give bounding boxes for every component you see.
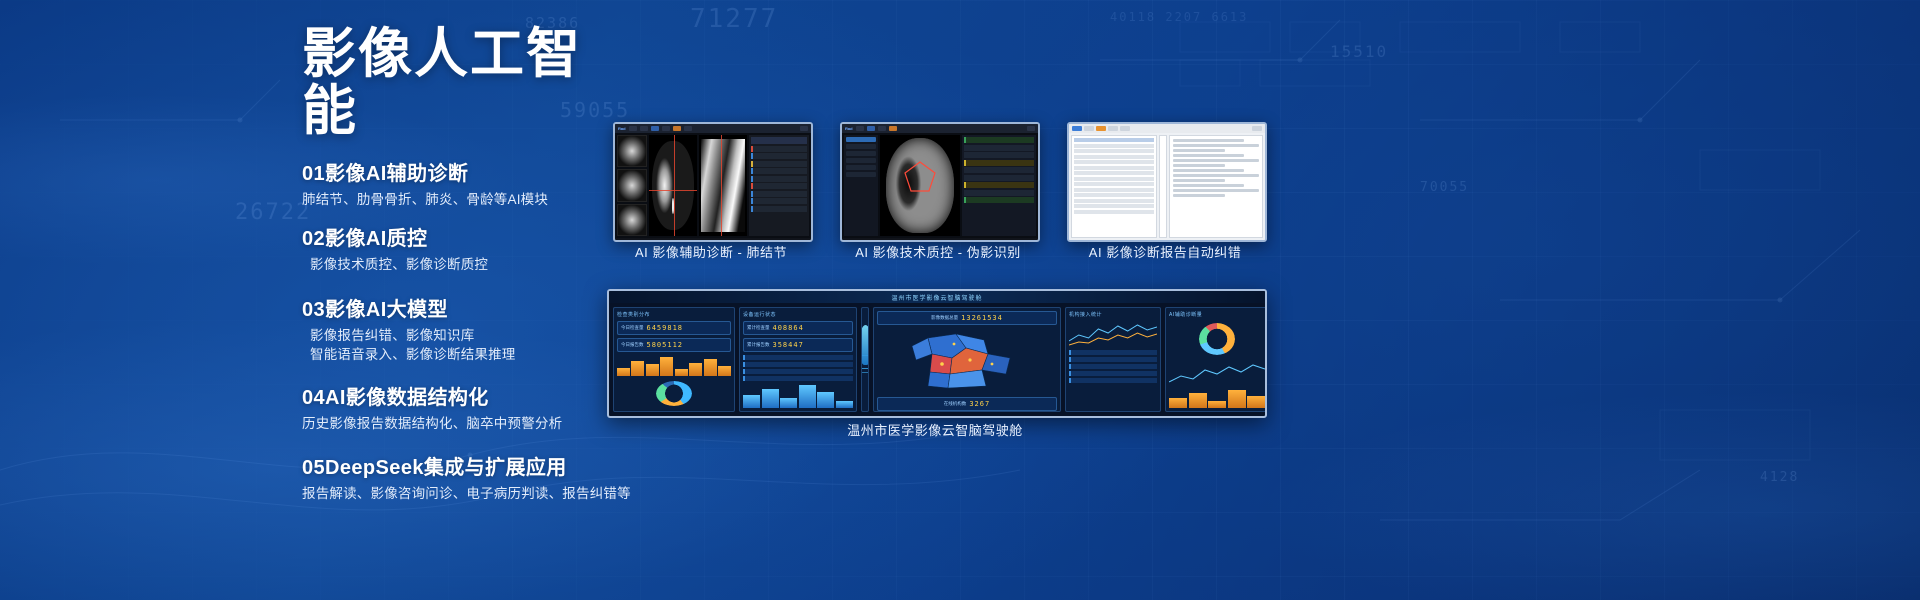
toolbar-button[interactable] — [856, 126, 864, 131]
dashboard-panel-device-status[interactable]: 设备运行状态 累计检查量 408864 累计报告数 358447 — [739, 307, 857, 412]
list-item[interactable] — [743, 355, 853, 360]
toolbar-button[interactable] — [1096, 126, 1106, 131]
feature-title: 01影像AI辅助诊断 — [302, 161, 632, 187]
series-thumbnail[interactable] — [617, 204, 647, 236]
sidebar-item[interactable] — [846, 158, 876, 163]
toolbar-button[interactable] — [1120, 126, 1130, 131]
wenzhou-map-svg — [892, 328, 1042, 394]
bg-number: 70055 — [1420, 180, 1469, 195]
kpi-label: 在线机构数 — [944, 401, 967, 407]
list-item[interactable] — [1069, 364, 1157, 369]
findings-panel[interactable] — [749, 135, 809, 236]
toolbar-button[interactable] — [1252, 126, 1262, 131]
caption-ai-qc: AI 影像技术质控 - 伪影识别 — [840, 242, 1036, 261]
sidebar-item[interactable] — [846, 165, 876, 170]
dashboard-panel-resource-map[interactable]: 影像数据总量 13261534 — [873, 307, 1061, 412]
correction-suggestion-panel[interactable] — [1169, 135, 1263, 238]
worklist-row[interactable] — [1074, 144, 1154, 148]
report-workspace — [1069, 133, 1265, 240]
feature-title: 05DeepSeek集成与扩展应用 — [302, 455, 632, 481]
sidebar-item[interactable] — [846, 172, 876, 177]
suggestion-line — [1173, 159, 1259, 162]
kpi-label: 累计报告数 — [747, 342, 770, 348]
list-item[interactable] — [1069, 378, 1157, 383]
suggestion-line — [1173, 154, 1243, 157]
bg-number: 26722 — [235, 200, 311, 225]
feature-item-02: 02影像AI质控 影像技术质控、影像诊断质控 — [302, 226, 632, 275]
suggestion-line — [1173, 194, 1224, 197]
screenshot-ai-qc[interactable]: Rad — [840, 122, 1040, 242]
app-titlebar: Rad — [615, 124, 811, 133]
kpi-value: 3267 — [969, 400, 990, 408]
kpi-today-exams: 今日检查量 6459818 — [617, 321, 731, 335]
feature-item-01: 01影像AI辅助诊断 肺结节、肋骨骨折、肺炎、骨龄等AI模块 — [302, 161, 632, 210]
crosshair-vertical — [674, 135, 675, 236]
toolbar-button[interactable] — [1108, 126, 1118, 131]
page-title: 影像人工智能 — [302, 26, 632, 139]
worklist-row[interactable] — [1074, 160, 1154, 164]
list-item[interactable] — [1069, 350, 1157, 355]
worklist-row[interactable] — [1074, 171, 1154, 175]
qc-result-row[interactable] — [964, 167, 1034, 173]
suggestion-line — [1173, 189, 1259, 192]
sidebar-item[interactable] — [846, 151, 876, 156]
toolbar-button[interactable] — [640, 126, 648, 131]
feature-subtitle: 影像报告纠错、影像知识库 — [302, 326, 632, 346]
bg-number: 40118 2207 6613 — [1110, 10, 1248, 24]
suggestion-line — [1173, 144, 1259, 147]
kpi-value: 5805112 — [647, 341, 684, 349]
panel-title: 检查类别分布 — [617, 311, 731, 318]
bg-number: 4128 — [1760, 470, 1799, 485]
worklist-row[interactable] — [1074, 210, 1154, 214]
qc-result-row[interactable] — [964, 145, 1034, 151]
caption-ai-diagnosis: AI 影像辅助诊断 - 肺结节 — [613, 242, 809, 261]
ct-coronal-view[interactable] — [699, 135, 747, 236]
donut-chart — [656, 381, 692, 406]
feature-title: 02影像AI质控 — [302, 226, 632, 252]
feature-title: 04AI影像数据结构化 — [302, 385, 632, 411]
suggestion-line — [1173, 149, 1224, 152]
dashboard-panel-institution-stats[interactable]: 机构接入统计 — [1065, 307, 1161, 412]
report-editor[interactable] — [1159, 135, 1167, 238]
worklist-header — [1074, 138, 1154, 142]
app-titlebar: Rad — [842, 124, 1038, 133]
feature-list-column: 影像人工智能 01影像AI辅助诊断 肺结节、肋骨骨折、肺炎、骨龄等AI模块 02… — [302, 26, 632, 517]
list-item[interactable] — [1069, 371, 1157, 376]
caption-report-correction: AI 影像诊断报告自动纠错 — [1067, 242, 1263, 261]
dashboard-body: 检查类别分布 今日检查量 6459818 今日报告数 5805112 设备运行状… — [609, 303, 1265, 416]
worklist-panel[interactable] — [1071, 135, 1157, 238]
qc-result-row[interactable] — [964, 152, 1034, 158]
worklist-row[interactable] — [1074, 199, 1154, 203]
coronal-image — [701, 139, 745, 232]
kpi-label: 累计检查量 — [747, 325, 770, 331]
toolbar-button[interactable] — [867, 126, 875, 131]
worklist-row[interactable] — [1074, 204, 1154, 208]
worklist-row[interactable] — [1074, 149, 1154, 153]
crosshair-vertical — [721, 135, 722, 236]
screenshot-ai-diagnosis[interactable]: Rad — [613, 122, 813, 242]
qc-result-row[interactable] — [964, 160, 1034, 166]
bg-number: 15510 — [1330, 42, 1388, 61]
feature-subtitle: 报告解读、影像咨询问诊、电子病历判读、报告纠错等 — [302, 484, 632, 504]
sidebar-item[interactable] — [846, 144, 876, 149]
banner-stage: 71277 82386 59055 26722 40118 2207 6613 … — [0, 0, 1920, 600]
bg-number: 71277 — [690, 4, 778, 34]
suggestion-line — [1173, 169, 1243, 172]
caption-cloud-dashboard: 温州市医学影像云智脑驾驶舱 — [607, 420, 1263, 439]
dashboard-panel-hologram[interactable] — [861, 307, 869, 412]
region-map[interactable] — [877, 328, 1057, 394]
list-item[interactable] — [743, 369, 853, 374]
finding-row[interactable] — [751, 153, 807, 159]
app-logo: Rad — [845, 126, 853, 131]
feature-subtitle: 影像技术质控、影像诊断质控 — [302, 255, 632, 275]
bar-chart — [617, 355, 731, 376]
panel-title: 机构接入统计 — [1069, 311, 1157, 318]
finding-row[interactable] — [751, 206, 807, 212]
feature-item-03: 03影像AI大模型 影像报告纠错、影像知识库 智能语音录入、影像诊断结果推理 — [302, 297, 632, 365]
feature-subtitle: 肺结节、肋骨骨折、肺炎、骨龄等AI模块 — [302, 190, 632, 210]
screenshot-report-correction[interactable] — [1067, 122, 1267, 242]
kpi-value: 6459818 — [647, 324, 684, 332]
chest-ct-view[interactable] — [880, 135, 960, 236]
kpi-label: 今日报告数 — [621, 342, 644, 348]
dashboard-panel-ai-volume[interactable]: AI辅助诊断量 — [1165, 307, 1267, 412]
qc-sidebar[interactable] — [844, 135, 878, 236]
qc-result-row[interactable] — [964, 137, 1034, 143]
toolbar-button[interactable] — [629, 126, 637, 131]
body-silhouette — [861, 325, 869, 365]
kpi-cumulative-exams: 累计检查量 408864 — [743, 321, 853, 335]
app-toolbar — [1069, 124, 1265, 133]
finding-row[interactable] — [751, 198, 807, 204]
feature-item-04: 04AI影像数据结构化 历史影像报告数据结构化、脑卒中预警分析 — [302, 385, 632, 434]
feature-subtitle: 智能语音录入、影像诊断结果推理 — [302, 345, 632, 365]
panel-title: AI辅助诊断量 — [1169, 311, 1265, 318]
toolbar-button[interactable] — [662, 126, 670, 131]
status-list[interactable] — [743, 355, 853, 381]
dashboard-panel-exam-category[interactable]: 检查类别分布 今日检查量 6459818 今日报告数 5805112 — [613, 307, 735, 412]
list-item[interactable] — [1069, 357, 1157, 362]
sidebar-item[interactable] — [846, 137, 876, 142]
kpi-label: 影像数据总量 — [931, 315, 958, 321]
finding-row[interactable] — [751, 168, 807, 174]
kpi-value: 13261534 — [961, 314, 1003, 322]
kpi-label: 今日检查量 — [621, 325, 644, 331]
bar-chart — [743, 384, 853, 408]
viewer-grid — [615, 133, 811, 238]
ct-axial-view[interactable] — [649, 135, 697, 236]
qc-result-row[interactable] — [964, 190, 1034, 196]
kpi-value: 408864 — [773, 324, 804, 332]
worklist-row[interactable] — [1074, 155, 1154, 159]
finding-row[interactable] — [751, 161, 807, 167]
series-thumbnail-column[interactable] — [617, 135, 647, 236]
feature-subtitle: 历史影像报告数据结构化、脑卒中预警分析 — [302, 414, 632, 434]
panel-title: 设备运行状态 — [743, 311, 853, 318]
line-chart — [1069, 321, 1157, 347]
suggestion-line — [1173, 139, 1243, 142]
toolbar-button[interactable] — [878, 126, 886, 131]
qc-result-row[interactable] — [964, 175, 1034, 181]
qc-grid — [842, 133, 1038, 238]
worklist-row[interactable] — [1074, 166, 1154, 170]
qc-result-row[interactable] — [964, 182, 1034, 188]
window-close-icon[interactable] — [800, 126, 808, 131]
list-item[interactable] — [743, 376, 853, 381]
qc-result-row[interactable] — [964, 197, 1034, 203]
dashboard-header-title: 温州市医学影像云智脑驾驶舱 — [609, 291, 1265, 303]
kpi-today-reports: 今日报告数 5805112 — [617, 338, 731, 352]
window-close-icon[interactable] — [1027, 126, 1035, 131]
bar-chart — [1169, 389, 1265, 408]
toolbar-button[interactable] — [673, 126, 681, 131]
kpi-cumulative-reports: 累计报告数 358447 — [743, 338, 853, 352]
toolbar-button[interactable] — [889, 126, 897, 131]
suggestion-line — [1173, 179, 1224, 182]
toolbar-button[interactable] — [1072, 126, 1082, 131]
toolbar-button[interactable] — [1084, 126, 1094, 131]
suggestion-line — [1173, 184, 1243, 187]
series-thumbnail[interactable] — [617, 135, 647, 167]
toolbar-button[interactable] — [651, 126, 659, 131]
app-logo: Rad — [618, 126, 626, 131]
worklist-row[interactable] — [1074, 182, 1154, 186]
list-item[interactable] — [743, 362, 853, 367]
findings-header — [751, 137, 807, 144]
donut-chart — [1199, 323, 1235, 355]
worklist-row[interactable] — [1074, 193, 1154, 197]
finding-row[interactable] — [751, 176, 807, 182]
worklist-row[interactable] — [1074, 188, 1154, 192]
crosshair-horizontal — [649, 190, 697, 191]
finding-row[interactable] — [751, 191, 807, 197]
worklist-row[interactable] — [1074, 177, 1154, 181]
finding-row[interactable] — [751, 183, 807, 189]
finding-row[interactable] — [751, 146, 807, 152]
feature-title: 03影像AI大模型 — [302, 297, 632, 323]
screenshot-cloud-dashboard[interactable]: 温州市医学影像云智脑驾驶舱 检查类别分布 今日检查量 6459818 今日报告数… — [607, 289, 1267, 418]
artifact-annotation-polygon — [903, 160, 937, 194]
institution-list[interactable] — [1069, 350, 1157, 383]
kpi-total-images: 影像数据总量 13261534 — [877, 311, 1057, 325]
qc-result-panel[interactable] — [962, 135, 1036, 236]
kpi-value: 358447 — [773, 341, 804, 349]
toolbar-button[interactable] — [684, 126, 692, 131]
series-thumbnail[interactable] — [617, 169, 647, 201]
kpi-online-institutions: 在线机构数 3267 — [877, 397, 1057, 411]
suggestion-line — [1173, 174, 1259, 177]
feature-item-05: 05DeepSeek集成与扩展应用 报告解读、影像咨询问诊、电子病历判读、报告纠… — [302, 455, 632, 504]
line-chart — [1169, 360, 1265, 386]
suggestion-line — [1173, 164, 1224, 167]
